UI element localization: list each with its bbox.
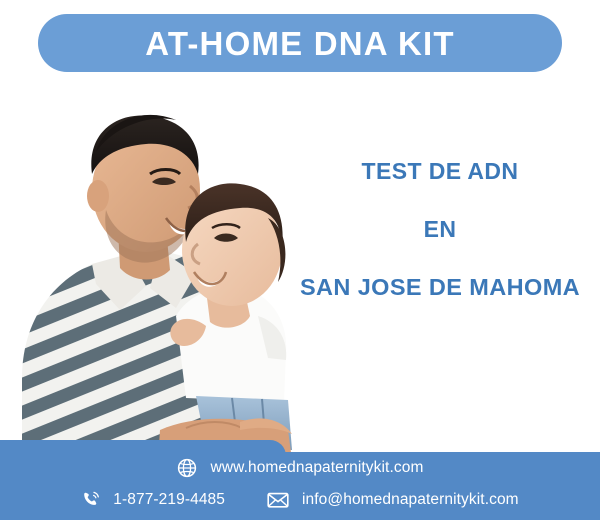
globe-icon <box>177 458 197 478</box>
headline-block: TEST DE ADN EN SAN JOSE DE MAHOMA <box>290 160 590 300</box>
email-label: info@homednapaternitykit.com <box>302 491 519 509</box>
banner-title: AT-HOME DNA KIT <box>145 27 454 60</box>
headline-line-1: TEST DE ADN <box>290 160 590 183</box>
email-contact[interactable]: info@homednapaternitykit.com <box>267 490 519 510</box>
phone-contact[interactable]: 1-877-219-4485 <box>81 490 225 510</box>
footer-contact-block: www.homednapaternitykit.com 1-877-219-44… <box>0 452 600 520</box>
headline-line-2: EN <box>290 218 590 241</box>
poster-canvas: AT-HOME DNA KIT <box>0 0 600 520</box>
family-photo <box>0 78 320 460</box>
envelope-icon <box>267 490 289 510</box>
footer-website-row: www.homednapaternitykit.com <box>0 458 600 478</box>
phone-label: 1-877-219-4485 <box>113 491 225 509</box>
website-label: www.homednapaternitykit.com <box>211 459 424 477</box>
headline-line-3: SAN JOSE DE MAHOMA <box>290 276 590 300</box>
phone-icon <box>81 490 101 510</box>
family-photo-illustration <box>0 78 320 460</box>
website-contact[interactable]: www.homednapaternitykit.com <box>177 458 424 478</box>
footer-contact-row: 1-877-219-4485 info@homednapaternitykit.… <box>0 490 600 510</box>
header-banner: AT-HOME DNA KIT <box>38 14 562 72</box>
